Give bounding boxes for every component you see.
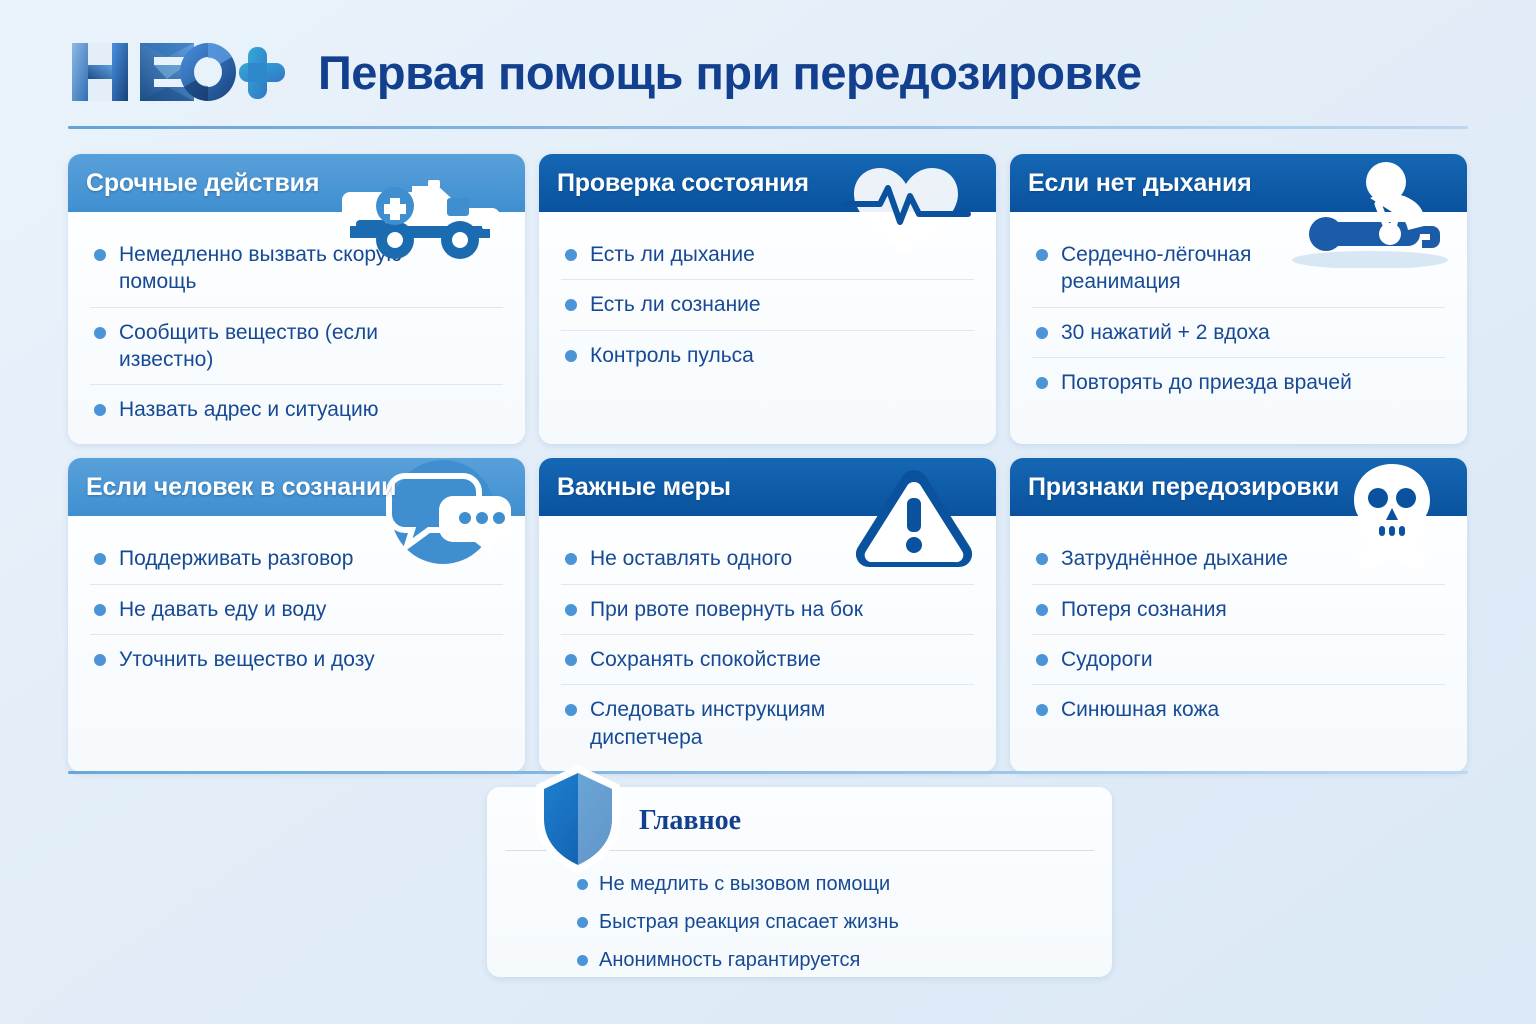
- bullet-dot: [94, 553, 106, 565]
- list-item-label: Уточнить вещество и дозу: [119, 646, 375, 673]
- card-body: Немедленно вызвать скорую помощь Сообщит…: [68, 212, 525, 444]
- bullet-dot: [1036, 553, 1048, 565]
- list-item[interactable]: Анонимность гарантируется: [577, 941, 1097, 979]
- list-item-label: Не оставлять одного: [590, 545, 792, 572]
- list-item[interactable]: Не давать еду и воду: [90, 585, 503, 635]
- list-item[interactable]: Сохранять спокойствие: [561, 635, 974, 685]
- list-item-label: При рвоте повернуть на бок: [590, 596, 863, 623]
- list-item-label: Следовать инструкциям диспетчера: [590, 696, 920, 751]
- list-item[interactable]: Сердечно-лёгочная реанимация: [1032, 230, 1445, 308]
- list-item-label: Не давать еду и воду: [119, 596, 326, 623]
- summary-title: Главное: [639, 805, 741, 837]
- footer-divider: [68, 771, 1468, 774]
- list-item[interactable]: Быстрая реакция спасает жизнь: [577, 903, 1097, 941]
- shield-icon: [532, 763, 624, 875]
- list-item-label: Быстрая реакция спасает жизнь: [599, 911, 899, 934]
- bullet-dot: [565, 299, 577, 311]
- card-title: Признаки передозировки: [1028, 473, 1339, 502]
- bullet-dot: [565, 249, 577, 261]
- bullet-dot: [565, 553, 577, 565]
- bullet-dot: [94, 327, 106, 339]
- card-overdose-signs[interactable]: Признаки передозировки: [1010, 458, 1467, 771]
- list-item-label: Повторять до приезда врачей: [1061, 369, 1352, 396]
- card-urgent-actions[interactable]: Срочные действия Немедленно: [68, 154, 525, 444]
- card-body: Есть ли дыхание Есть ли сознание Контрол…: [539, 212, 996, 444]
- list-item[interactable]: 30 нажатий + 2 вдоха: [1032, 308, 1445, 358]
- list-item-label: Немедленно вызвать скорую помощь: [119, 241, 449, 296]
- list-item-label: Есть ли сознание: [590, 291, 761, 318]
- list-item-label: Анонимность гарантируется: [599, 949, 860, 972]
- list-item[interactable]: Следовать инструкциям диспетчера: [561, 685, 974, 762]
- card-condition-check[interactable]: Проверка состояния Есть ли дыхание Есть …: [539, 154, 996, 444]
- bullet-dot: [577, 955, 588, 966]
- summary-panel: Главное Не медлить с вызовом помощи Быст…: [487, 787, 1112, 977]
- list-item-label: Судороги: [1061, 646, 1153, 673]
- list-item-label: Назвать адрес и ситуацию: [119, 396, 379, 423]
- bullet-dot: [94, 654, 106, 666]
- card-header: Если нет дыхания: [1010, 154, 1467, 212]
- card-body: Сердечно-лёгочная реанимация 30 нажатий …: [1010, 212, 1467, 444]
- bullet-dot: [1036, 327, 1048, 339]
- bullet-dot: [565, 654, 577, 666]
- card-title: Если человек в сознании: [86, 473, 396, 502]
- bullet-dot: [1036, 704, 1048, 716]
- card-header: Если человек в сознании: [68, 458, 525, 516]
- list-item-label: Есть ли дыхание: [590, 241, 755, 268]
- card-header: Проверка состояния: [539, 154, 996, 212]
- card-title: Проверка состояния: [557, 169, 809, 198]
- list-item-label: Сохранять спокойствие: [590, 646, 821, 673]
- header-divider: [68, 126, 1468, 129]
- list-item[interactable]: Не медлить с вызовом помощи: [577, 865, 1097, 903]
- list-item[interactable]: Уточнить вещество и дозу: [90, 635, 503, 684]
- list-item[interactable]: Повторять до приезда врачей: [1032, 358, 1445, 407]
- list-item[interactable]: Есть ли дыхание: [561, 230, 974, 280]
- list-item[interactable]: Судороги: [1032, 635, 1445, 685]
- bullet-dot: [565, 350, 577, 362]
- list-item-label: Не медлить с вызовом помощи: [599, 873, 890, 896]
- page-title: Первая помощь при передозировке: [318, 49, 1142, 96]
- bullet-dot: [577, 879, 588, 890]
- list-item[interactable]: Назвать адрес и ситуацию: [90, 385, 503, 434]
- bullet-dot: [577, 917, 588, 928]
- bullet-dot: [1036, 249, 1048, 261]
- list-item-label: Поддерживать разговор: [119, 545, 353, 572]
- bullet-dot: [1036, 654, 1048, 666]
- bullet-dot: [94, 604, 106, 616]
- list-item-label: Сердечно-лёгочная реанимация: [1061, 241, 1306, 296]
- bullet-dot: [94, 249, 106, 261]
- card-header: Признаки передозировки: [1010, 458, 1467, 516]
- page-header: Первая помощь при передозировке: [68, 24, 1468, 120]
- list-item-label: Контроль пульса: [590, 342, 754, 369]
- bullet-dot: [94, 404, 106, 416]
- card-conscious-person[interactable]: Если человек в сознании Поддерживать раз…: [68, 458, 525, 771]
- list-item[interactable]: Потеря сознания: [1032, 585, 1445, 635]
- card-title: Если нет дыхания: [1028, 169, 1252, 198]
- card-header: Важные меры: [539, 458, 996, 516]
- bullet-dot: [565, 604, 577, 616]
- cards-grid: Срочные действия Немедленно: [68, 154, 1468, 772]
- list-item[interactable]: Синюшная кожа: [1032, 685, 1445, 734]
- list-item[interactable]: Контроль пульса: [561, 331, 974, 380]
- card-title: Срочные действия: [86, 169, 319, 198]
- card-body: Затруднённое дыхание Потеря сознания Суд…: [1010, 516, 1467, 771]
- card-body: Поддерживать разговор Не давать еду и во…: [68, 516, 525, 771]
- card-no-breathing[interactable]: Если нет дыхания Сердечно-лё: [1010, 154, 1467, 444]
- list-item-label: Синюшная кожа: [1061, 696, 1219, 723]
- list-item[interactable]: Сообщить вещество (если известно): [90, 308, 503, 386]
- bullet-dot: [1036, 377, 1048, 389]
- list-item-label: Потеря сознания: [1061, 596, 1227, 623]
- list-item[interactable]: При рвоте повернуть на бок: [561, 585, 974, 635]
- list-item[interactable]: Немедленно вызвать скорую помощь: [90, 230, 503, 308]
- neo-plus-logo-icon: [68, 37, 290, 107]
- card-important-measures[interactable]: Важные меры Не оставлять одного При рвот…: [539, 458, 996, 771]
- list-item[interactable]: Затруднённое дыхание: [1032, 534, 1445, 584]
- bullet-dot: [1036, 604, 1048, 616]
- card-header: Срочные действия: [68, 154, 525, 212]
- infographic-root: Первая помощь при передозировке Срочные …: [0, 0, 1536, 1024]
- list-item-label: 30 нажатий + 2 вдоха: [1061, 319, 1270, 346]
- list-item[interactable]: Есть ли сознание: [561, 280, 974, 330]
- card-body: Не оставлять одного При рвоте повернуть …: [539, 516, 996, 771]
- list-item[interactable]: Не оставлять одного: [561, 534, 974, 584]
- card-title: Важные меры: [557, 473, 731, 502]
- bullet-dot: [565, 704, 577, 716]
- list-item-label: Затруднённое дыхание: [1061, 545, 1288, 572]
- summary-list: Не медлить с вызовом помощи Быстрая реак…: [577, 865, 1097, 979]
- list-item[interactable]: Поддерживать разговор: [90, 534, 503, 584]
- list-item-label: Сообщить вещество (если известно): [119, 319, 449, 374]
